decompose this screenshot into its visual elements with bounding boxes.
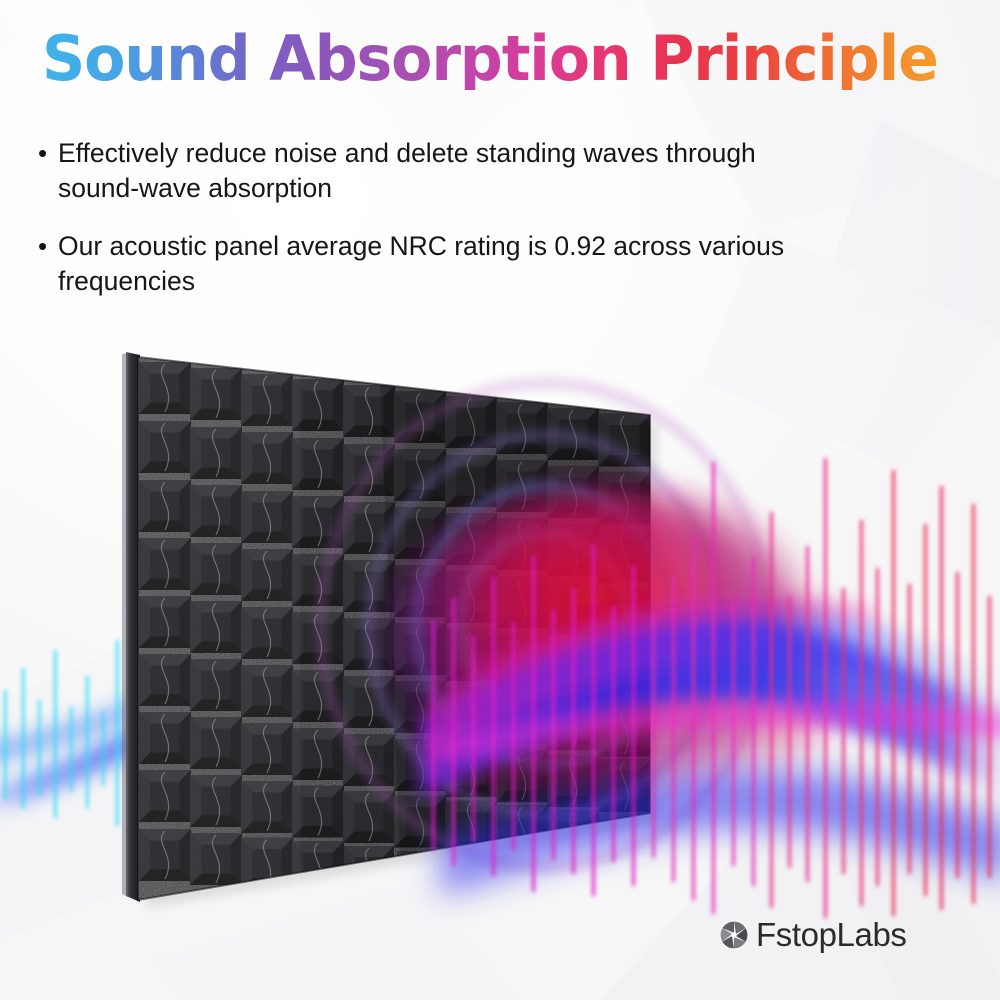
product-illustration bbox=[0, 0, 1000, 1000]
aperture-icon bbox=[718, 919, 750, 951]
brand-name: FstopLabs bbox=[756, 916, 907, 954]
brand-logo[interactable]: FstopLabs bbox=[718, 916, 907, 954]
infographic-canvas: Sound Absorption Principle • Effectively… bbox=[0, 0, 1000, 1000]
